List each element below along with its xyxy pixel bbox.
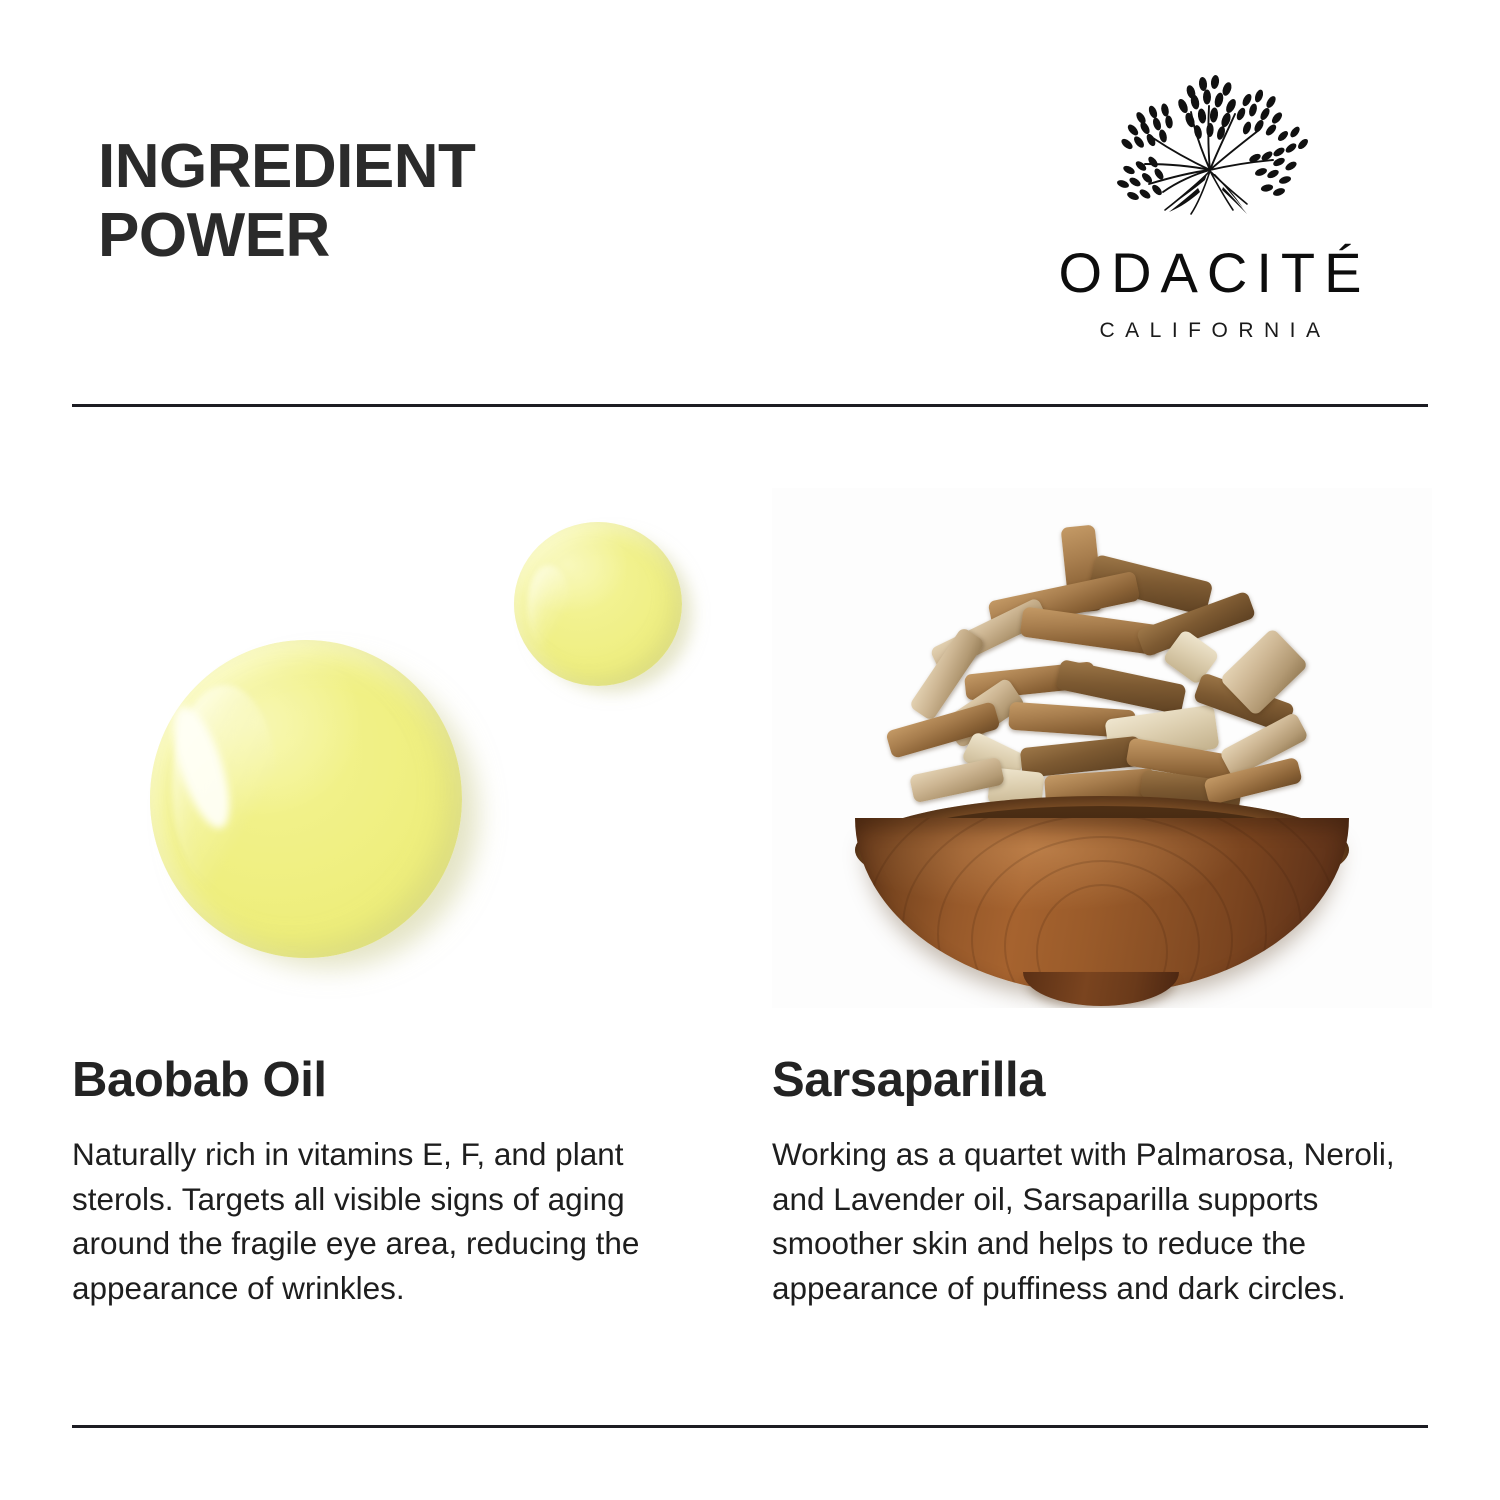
ingredient-card-sarsaparilla: Sarsaparilla Working as a quartet with P… xyxy=(772,488,1432,1311)
brand-wordmark: ODACITÉ xyxy=(985,245,1435,301)
divider-top xyxy=(72,404,1428,407)
divider-bottom xyxy=(72,1425,1428,1428)
brand-tagline: CALIFORNIA xyxy=(985,319,1435,343)
oil-droplet-small xyxy=(514,522,682,686)
wooden-bowl xyxy=(847,510,1357,1006)
bowl-foot xyxy=(1023,972,1179,1006)
sarsaparilla-root-bowl-image xyxy=(772,488,1432,1008)
baobab-oil-droplets-image xyxy=(72,488,712,1008)
dandelion-umbel-icon xyxy=(1095,62,1325,227)
ingredient-description: Naturally rich in vitamins E, F, and pla… xyxy=(72,1132,664,1311)
ingredient-card-baobab-oil: Baobab Oil Naturally rich in vitamins E,… xyxy=(72,488,712,1311)
ingredient-title: Baobab Oil xyxy=(72,1056,712,1105)
brand-logo: ODACITÉ CALIFORNIA xyxy=(985,62,1435,343)
bowl-body xyxy=(855,818,1349,994)
bowl-scene xyxy=(772,488,1432,1008)
ingredient-power-page: INGREDIENT POWER xyxy=(0,0,1500,1500)
oil-droplet-large xyxy=(150,640,462,958)
page-title: INGREDIENT POWER xyxy=(98,132,718,271)
oil-droplet-scene xyxy=(72,488,712,1008)
ingredient-title: Sarsaparilla xyxy=(772,1056,1432,1105)
ingredient-description: Working as a quartet with Palmarosa, Ner… xyxy=(772,1132,1434,1311)
